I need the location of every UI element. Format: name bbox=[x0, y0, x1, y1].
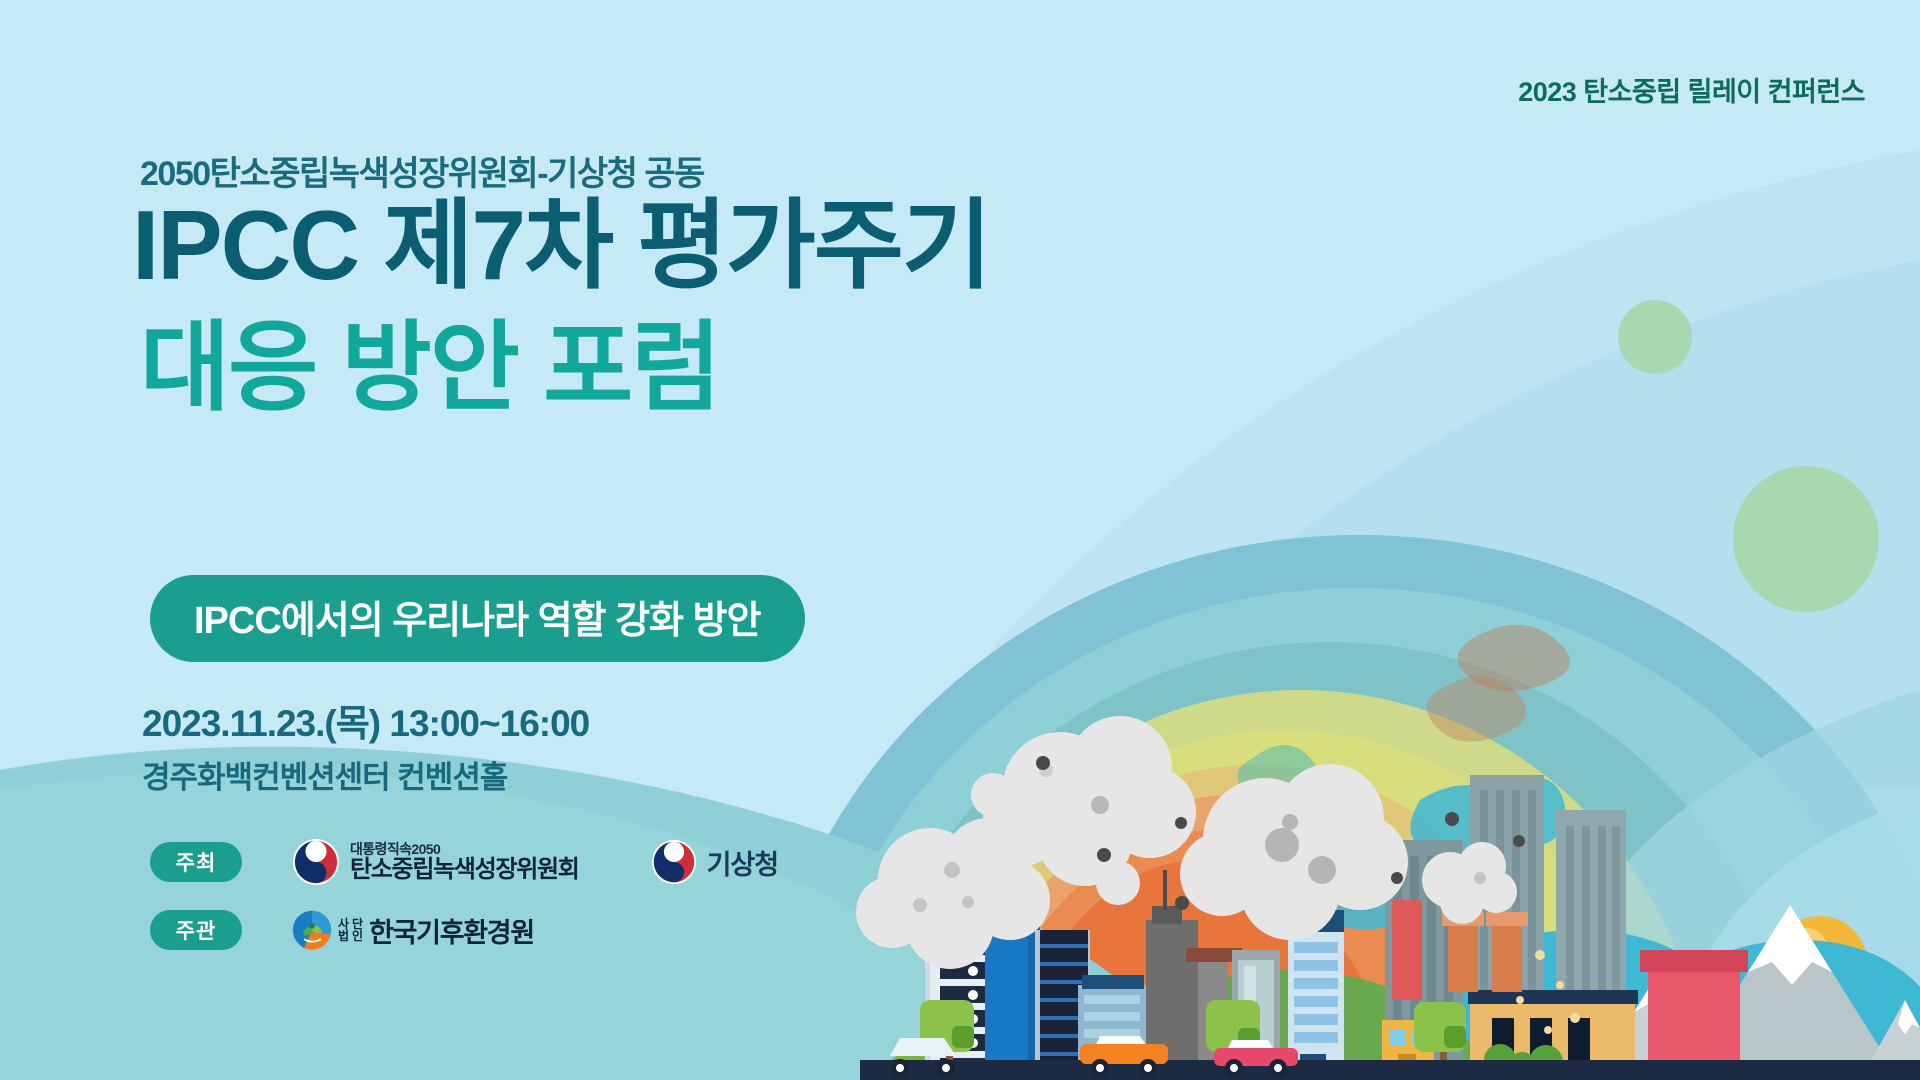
page-title-line-1: IPCC 제7차 평가주기 bbox=[132, 196, 990, 294]
logo-kma: 기상청 bbox=[651, 839, 779, 885]
organizer-row: 주관 사 법 단 인 한국기후환경 bbox=[150, 910, 534, 950]
government-taegeuk-icon bbox=[292, 838, 340, 886]
logo-kcei: 사 법 단 인 한국기후환경원 bbox=[292, 910, 534, 950]
committee-name: 탄소중립녹색성장위원회 bbox=[350, 857, 579, 882]
organizer-role-badge: 주관 bbox=[150, 910, 242, 950]
kcei-prefix-1b: 법 bbox=[338, 930, 349, 942]
conference-series-kicker: 2023 탄소중립 릴레이 컨퍼런스 bbox=[1518, 70, 1865, 109]
logo-2050-committee: 대통령직속2050 탄소중립녹색성장위원회 bbox=[292, 838, 579, 886]
committee-prefix: 대통령직속2050 bbox=[350, 842, 579, 857]
page-title-line-2: 대응 방안 포럼 bbox=[140, 318, 719, 416]
decor-circle-large bbox=[1733, 466, 1879, 612]
host-row: 주최 대통령직속2050 탄소중립녹색성장위원회 기상청 bbox=[150, 838, 778, 886]
co-host-eyebrow: 2050탄소중립녹색성장위원회-기상청 공동 bbox=[140, 146, 704, 195]
decor-circle-small bbox=[1618, 300, 1692, 374]
kcei-prefix-2b: 인 bbox=[352, 930, 363, 942]
kcei-leaf-icon bbox=[292, 910, 332, 950]
road bbox=[860, 1060, 1920, 1080]
poster-root: 2023 탄소중립 릴레이 컨퍼런스 2050탄소중립녹색성장위원회-기상청 공… bbox=[0, 0, 1920, 1080]
government-taegeuk-icon bbox=[651, 839, 697, 885]
host-role-badge: 주최 bbox=[150, 842, 242, 882]
smoke-puff-b bbox=[971, 773, 1015, 817]
subtitle-pill: IPCC에서의 우리나라 역할 강화 방안 bbox=[150, 575, 805, 662]
smoke-puff-a bbox=[1096, 861, 1140, 905]
event-venue: 경주화백컨벤션센터 컨벤션홀 bbox=[142, 752, 507, 797]
event-datetime: 2023.11.23.(목) 13:00~16:00 bbox=[142, 693, 589, 747]
kcei-name: 한국기후환경원 bbox=[369, 911, 534, 950]
kma-name: 기상청 bbox=[707, 843, 779, 882]
